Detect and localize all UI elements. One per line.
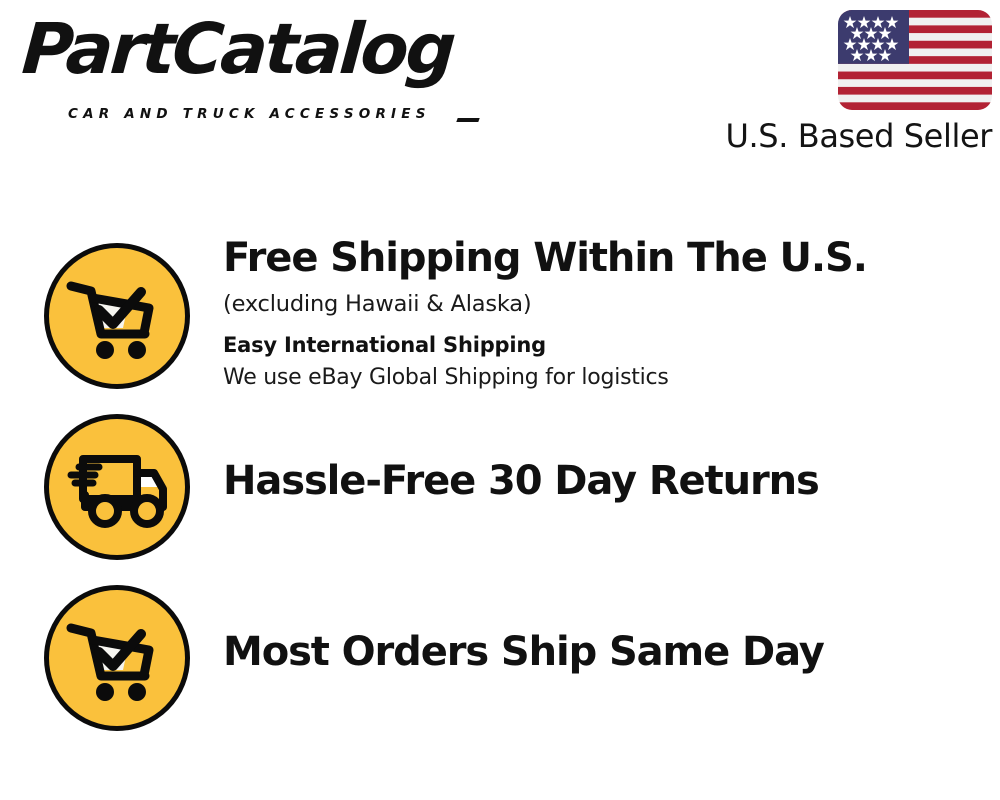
- brand-tagline: CAR AND TRUCK ACCESSORIES: [68, 106, 431, 122]
- feature-subheading: Easy International Shipping: [223, 332, 983, 359]
- brand-wordmark: PartCatalog: [20, 14, 455, 84]
- brand-tagline-rule: [456, 118, 479, 122]
- feature-text: Free Shipping Within The U.S. (excluding…: [223, 236, 983, 393]
- header: PartCatalog CAR AND TRUCK ACCESSORIES: [0, 0, 1000, 170]
- us-based-seller-label: U.S. Based Seller: [726, 117, 992, 155]
- promo-banner: PartCatalog CAR AND TRUCK ACCESSORIES: [0, 0, 1000, 800]
- feature-item: Free Shipping Within The U.S. (excluding…: [0, 236, 1000, 396]
- feature-note: (excluding Hawaii & Alaska): [223, 290, 983, 319]
- delivery-truck-icon: [44, 414, 190, 560]
- feature-item: Hassle-Free 30 Day Returns: [0, 407, 1000, 567]
- feature-heading: Free Shipping Within The U.S.: [223, 236, 983, 281]
- feature-item: Most Orders Ship Same Day: [0, 578, 1000, 738]
- us-flag-icon: [838, 10, 992, 110]
- brand-logo: PartCatalog CAR AND TRUCK ACCESSORIES: [20, 18, 500, 118]
- feature-text: Most Orders Ship Same Day: [223, 578, 983, 675]
- feature-text: Hassle-Free 30 Day Returns: [223, 407, 983, 504]
- cart-check-icon: [44, 243, 190, 389]
- feature-subnote: We use eBay Global Shipping for logistic…: [223, 364, 983, 393]
- feature-heading: Hassle-Free 30 Day Returns: [223, 459, 983, 504]
- feature-heading: Most Orders Ship Same Day: [223, 630, 983, 675]
- cart-check-icon: [44, 585, 190, 731]
